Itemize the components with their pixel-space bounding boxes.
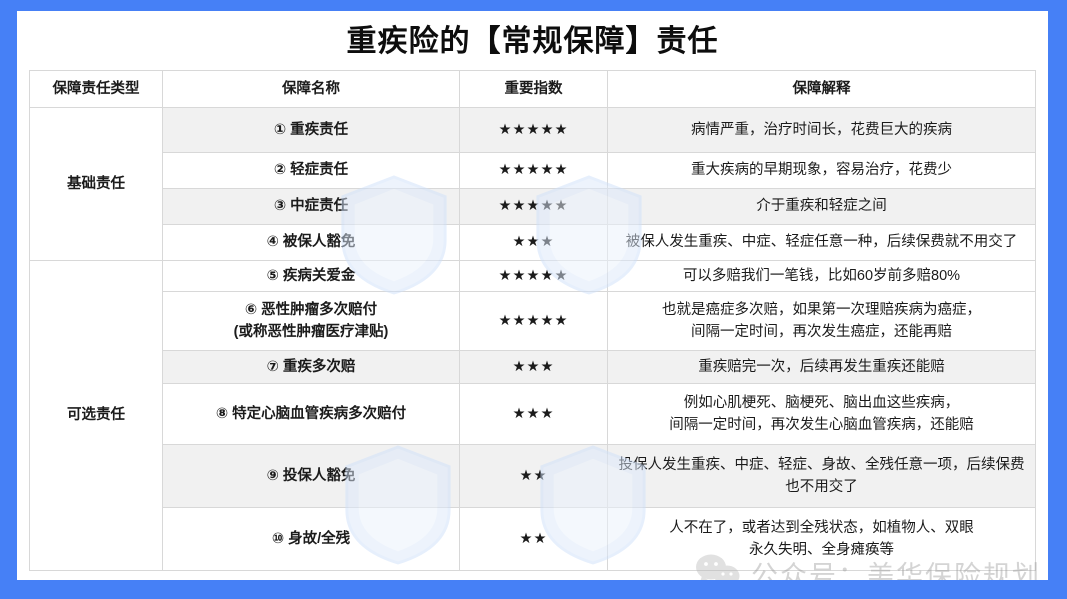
importance-stars: ★★★★★: [460, 261, 607, 291]
importance-stars: ★★: [460, 508, 607, 570]
importance-stars: ★★★★★: [460, 189, 607, 224]
column-header-explanation: 保障解释: [608, 71, 1035, 107]
table-row: ⑨ 投保人豁免 ★★ 投保人发生重疾、中症、轻症、身故、全残任意一项，后续保费 …: [30, 445, 1035, 507]
coverage-desc: 重大疾病的早期现象，容易治疗，花费少: [608, 153, 1035, 188]
coverage-desc: 人不在了，或者达到全残状态，如植物人、双眼 永久失明、全身瘫痪等: [608, 508, 1035, 570]
coverage-desc: 重疾赔完一次，后续再发生重疾还能赔: [608, 351, 1035, 383]
coverage-name: ⑥ 恶性肿瘤多次赔付 (或称恶性肿瘤医疗津贴): [163, 292, 459, 350]
coverage-desc: 可以多赔我们一笔钱，比如60岁前多赔80%: [608, 261, 1035, 291]
coverage-name: ⑨ 投保人豁免: [163, 445, 459, 507]
coverage-desc-line2: 间隔一定时间，再次发生癌症，还能再赔: [608, 321, 1035, 343]
table-row: ③ 中症责任 ★★★★★ 介于重疾和轻症之间: [30, 189, 1035, 224]
coverage-name: ⑦ 重疾多次赔: [163, 351, 459, 383]
table-header-row: 保障责任类型 保障名称 重要指数 保障解释: [30, 71, 1035, 107]
coverage-name: ② 轻症责任: [163, 153, 459, 188]
table-row: ④ 被保人豁免 ★★★ 被保人发生重疾、中症、轻症任意一种，后续保费就不用交了: [30, 225, 1035, 260]
coverage-desc-line1: 例如心肌梗死、脑梗死、脑出血这些疾病，: [608, 392, 1035, 414]
importance-stars: ★★★★★: [460, 153, 607, 188]
table-row: ⑩ 身故/全残 ★★ 人不在了，或者达到全残状态，如植物人、双眼 永久失明、全身…: [30, 508, 1035, 570]
coverage-name: ③ 中症责任: [163, 189, 459, 224]
coverage-desc-line2: 也不用交了: [608, 476, 1035, 498]
coverage-table: 保障责任类型 保障名称 重要指数 保障解释 基础责任 ① 重疾责任 ★★★★★ …: [29, 70, 1036, 571]
coverage-desc: 例如心肌梗死、脑梗死、脑出血这些疾病， 间隔一定时间，再次发生心脑血管疾病，还能…: [608, 384, 1035, 444]
content-sheet: 重疾险的【常规保障】责任 保障责任类型 保障名称: [17, 11, 1048, 580]
table-row: ⑦ 重疾多次赔 ★★★ 重疾赔完一次，后续再发生重疾还能赔: [30, 351, 1035, 383]
table-row: ② 轻症责任 ★★★★★ 重大疾病的早期现象，容易治疗，花费少: [30, 153, 1035, 188]
coverage-desc-line1: 也就是癌症多次赔，如果第一次理赔疾病为癌症，: [608, 299, 1035, 321]
importance-stars: ★★★★★: [460, 108, 607, 152]
coverage-desc: 病情严重，治疗时间长，花费巨大的疾病: [608, 108, 1035, 152]
importance-stars: ★★★: [460, 384, 607, 444]
coverage-name-line2: (或称恶性肿瘤医疗津贴): [163, 321, 459, 343]
coverage-desc: 介于重疾和轻症之间: [608, 189, 1035, 224]
table-row: ⑧ 特定心脑血管疾病多次赔付 ★★★ 例如心肌梗死、脑梗死、脑出血这些疾病， 间…: [30, 384, 1035, 444]
coverage-desc-line2: 间隔一定时间，再次发生心脑血管疾病，还能赔: [608, 414, 1035, 436]
column-header-category: 保障责任类型: [30, 71, 162, 107]
table-row: ⑥ 恶性肿瘤多次赔付 (或称恶性肿瘤医疗津贴) ★★★★★ 也就是癌症多次赔，如…: [30, 292, 1035, 350]
page-title: 重疾险的【常规保障】责任: [17, 11, 1048, 70]
coverage-desc: 被保人发生重疾、中症、轻症任意一种，后续保费就不用交了: [608, 225, 1035, 260]
coverage-name: ⑩ 身故/全残: [163, 508, 459, 570]
slide-canvas: 重疾险的【常规保障】责任 保障责任类型 保障名称: [0, 0, 1067, 599]
coverage-desc-line1: 人不在了，或者达到全残状态，如植物人、双眼: [608, 517, 1035, 539]
category-cell-basic: 基础责任: [30, 108, 162, 260]
coverage-name: ⑧ 特定心脑血管疾病多次赔付: [163, 384, 459, 444]
coverage-desc-line2: 永久失明、全身瘫痪等: [608, 539, 1035, 561]
coverage-name: ④ 被保人豁免: [163, 225, 459, 260]
importance-stars: ★★: [460, 445, 607, 507]
coverage-desc: 也就是癌症多次赔，如果第一次理赔疾病为癌症， 间隔一定时间，再次发生癌症，还能再…: [608, 292, 1035, 350]
table-row: 基础责任 ① 重疾责任 ★★★★★ 病情严重，治疗时间长，花费巨大的疾病: [30, 108, 1035, 152]
column-header-index: 重要指数: [460, 71, 607, 107]
coverage-desc: 投保人发生重疾、中症、轻症、身故、全残任意一项，后续保费 也不用交了: [608, 445, 1035, 507]
importance-stars: ★★★: [460, 225, 607, 260]
coverage-name: ⑤ 疾病关爱金: [163, 261, 459, 291]
importance-stars: ★★★★★: [460, 292, 607, 350]
column-header-name: 保障名称: [163, 71, 459, 107]
category-cell-optional: 可选责任: [30, 261, 162, 570]
table-row: 可选责任 ⑤ 疾病关爱金 ★★★★★ 可以多赔我们一笔钱，比如60岁前多赔80%: [30, 261, 1035, 291]
coverage-desc-line1: 投保人发生重疾、中症、轻症、身故、全残任意一项，后续保费: [608, 454, 1035, 476]
coverage-name-line1: ⑥ 恶性肿瘤多次赔付: [163, 299, 459, 321]
importance-stars: ★★★: [460, 351, 607, 383]
coverage-name: ① 重疾责任: [163, 108, 459, 152]
